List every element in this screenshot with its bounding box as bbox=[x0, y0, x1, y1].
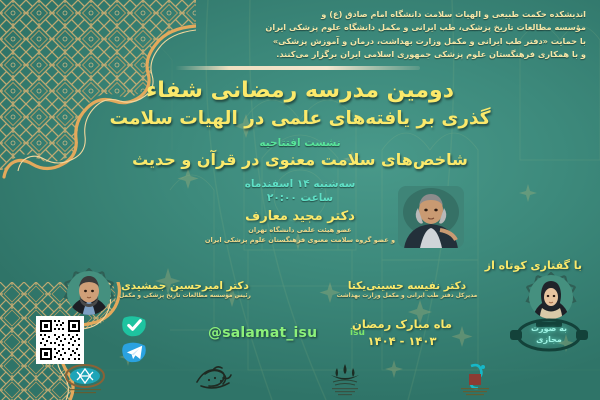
sponsor-logo-2 bbox=[187, 362, 243, 396]
social-handle[interactable]: @salamat_isu bbox=[208, 325, 317, 341]
medical-history-institute-logo-icon bbox=[447, 362, 503, 396]
virtual-badge-line-1: به صورت bbox=[531, 324, 567, 335]
intro-line-3: با حمایت «دفتر طب ایرانی و مکمل وزارت به… bbox=[196, 35, 586, 48]
short-talks-label: با گفتاری کوتاه از bbox=[485, 259, 582, 272]
short-talk-speaker-1-name: دکتر نفیسه حسینی‌یکتا bbox=[322, 280, 492, 292]
ramadan-line-1: ماه مبارک رمضان bbox=[342, 316, 462, 333]
short-talk-speaker-2-name: دکتر امیرحسین جمشیدی bbox=[100, 280, 270, 292]
main-speaker-affiliation-line-1: عضو هیئت علمی دانشگاه تهران bbox=[0, 225, 600, 235]
virtual-badge-line-2: مجازی bbox=[536, 335, 562, 346]
intro-line-2: مؤسسه مطالعات تاریخ پزشکی، طب ایرانی و م… bbox=[196, 21, 586, 34]
main-speaker-affiliation-line-2: و عضو گروه سلامت معنوی فرهنگستان علوم پز… bbox=[0, 235, 600, 245]
short-talk-speaker-1-role: مدیرکل دفتر طب ایرانی و مکمل وزارت بهداش… bbox=[322, 293, 492, 299]
ramadan-label: ماه مبارک رمضان ۱۴۰۳ - ۱۴۰۴ bbox=[342, 316, 462, 349]
page-title: دومین مدرسه رمضانی شفاء bbox=[0, 78, 600, 103]
ramadan-school-poster: اندیشکده حکمت طبیعی و الهیات سلامت دانشگ… bbox=[0, 0, 600, 400]
iran-university-medical-sciences-logo-icon bbox=[317, 362, 373, 396]
header-divider bbox=[175, 66, 420, 70]
main-speaker-photo bbox=[398, 186, 464, 248]
bale-check-icon[interactable] bbox=[121, 314, 148, 337]
social-links bbox=[118, 314, 148, 366]
short-talk-speaker-1-photo bbox=[524, 272, 578, 322]
intro-line-1: اندیشکده حکمت طبیعی و الهیات سلامت دانشگ… bbox=[196, 8, 586, 21]
sponsor-logo-3 bbox=[317, 362, 373, 396]
short-talk-speaker-2-photo bbox=[62, 268, 116, 318]
session-topic: شاخص‌های سلامت معنوی در قرآن و حدیث bbox=[0, 150, 600, 169]
sponsor-logos bbox=[0, 360, 600, 398]
short-talk-speaker-1: دکتر نفیسه حسینی‌یکتا مدیرکل دفتر طب ایر… bbox=[322, 280, 492, 299]
main-speaker-avatar bbox=[398, 186, 464, 248]
qr-code-icon bbox=[38, 318, 82, 362]
virtual-badge-text: به صورت مجازی bbox=[506, 316, 592, 354]
speaker-1-avatar bbox=[524, 272, 578, 322]
page-subtitle: گذری بر یافته‌های علمی در الهیات سلامت bbox=[0, 108, 600, 129]
virtual-event-badge: به صورت مجازی bbox=[506, 316, 592, 354]
sponsor-logo-1 bbox=[57, 362, 113, 396]
speaker-2-avatar bbox=[62, 268, 116, 318]
session-label: نشست افتتاحیه bbox=[0, 137, 600, 149]
qr-code[interactable] bbox=[36, 316, 84, 364]
organizers-intro: اندیشکده حکمت طبیعی و الهیات سلامت دانشگ… bbox=[196, 8, 586, 61]
imam-sadiq-university-logo-icon bbox=[57, 362, 113, 396]
event-date: سه‌شنبه ۱۴ اسفندماه bbox=[0, 178, 600, 190]
calligraphy-seal-logo-icon bbox=[187, 362, 243, 396]
event-time: ساعت ۲۰:۰۰ bbox=[0, 192, 600, 204]
ramadan-line-2: ۱۴۰۳ - ۱۴۰۴ bbox=[342, 333, 462, 350]
main-speaker-affiliation: عضو هیئت علمی دانشگاه تهران و عضو گروه س… bbox=[0, 225, 600, 245]
sponsor-logo-4 bbox=[447, 362, 503, 396]
short-talk-speaker-2: دکتر امیرحسین جمشیدی رئیس مؤسسه مطالعات … bbox=[100, 280, 270, 299]
main-speaker-name: دکتر مجید معارف bbox=[0, 209, 600, 224]
intro-line-4: و با همکاری فرهنگستان علوم پزشکی جمهوری … bbox=[196, 48, 586, 61]
short-talk-speaker-2-role: رئیس مؤسسه مطالعات تاریخ پزشکی و مکمل bbox=[100, 293, 270, 299]
